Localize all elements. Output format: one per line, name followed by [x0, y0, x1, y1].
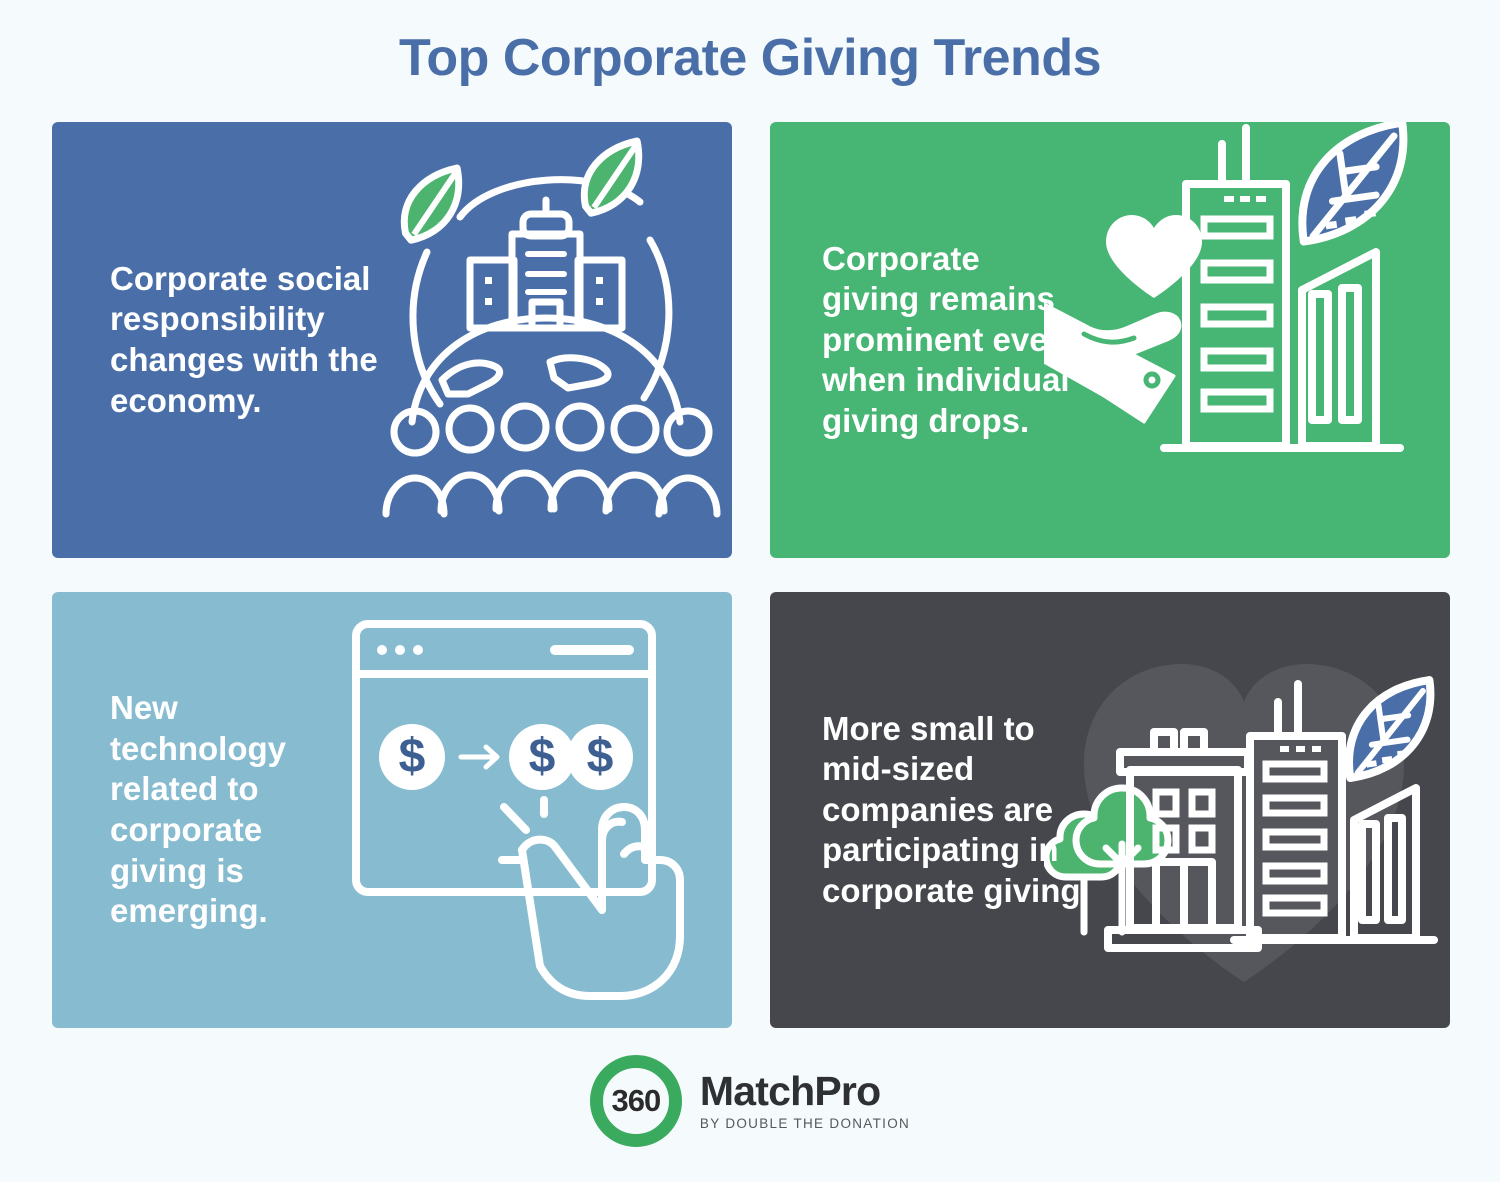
page-title: Top Corporate Giving Trends — [0, 28, 1500, 88]
leaf-icon — [394, 168, 469, 241]
svg-text:$: $ — [587, 730, 614, 783]
svg-text:$: $ — [529, 730, 556, 783]
browser-dollars-click-hand-icon: $ $ $ — [344, 592, 714, 1028]
trend-card-grid: Corporate social responsibility changes … — [52, 122, 1450, 1028]
svg-text:$: $ — [399, 730, 426, 783]
trend-card-new-technology[interactable]: New technology related to corporate givi… — [52, 592, 732, 1028]
trend-card-corporate-giving-prominent[interactable]: Corporate giving remains prominent even … — [770, 122, 1450, 558]
logo-tagline: BY DOUBLE THE DONATION — [700, 1117, 910, 1131]
trend-card-text: New technology related to corporate givi… — [110, 688, 340, 931]
trend-card-text: More small to mid-sized companies are pa… — [822, 709, 1112, 912]
trend-card-text: Corporate social responsibility changes … — [110, 259, 380, 421]
infographic-page: Top Corporate Giving Trends Corporate so… — [0, 0, 1500, 1182]
brand-logo[interactable]: 360 MatchPro BY DOUBLE THE DONATION — [0, 1055, 1500, 1147]
logo-360-text: 360 — [590, 1055, 682, 1147]
hand-heart-building-leaf-icon — [1044, 122, 1444, 558]
logo-360-mark: 360 — [590, 1055, 682, 1147]
globe-buildings-people-leaves-icon — [382, 122, 722, 558]
leaf-icon — [1289, 123, 1416, 242]
trend-card-small-mid-companies[interactable]: More small to mid-sized companies are pa… — [770, 592, 1450, 1028]
logo-name: MatchPro — [700, 1071, 910, 1112]
dollar-coin-icon: $ — [379, 724, 445, 790]
trend-card-text: Corporate giving remains prominent even … — [822, 239, 1072, 442]
dollar-coin-icon: $ — [509, 724, 575, 790]
trend-card-csr-economy[interactable]: Corporate social responsibility changes … — [52, 122, 732, 558]
logo-wordmark: MatchPro BY DOUBLE THE DONATION — [700, 1071, 910, 1131]
dollar-coin-icon: $ — [567, 724, 633, 790]
